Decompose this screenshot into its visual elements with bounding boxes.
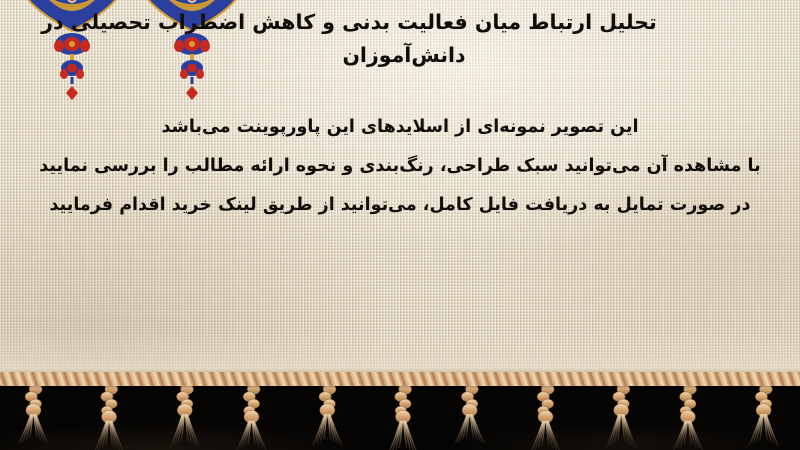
body-line-2: با مشاهده آن می‌توانید سبک طراحی، رنگ‌بن…	[0, 147, 800, 186]
slide-canvas: تحلیل ارتباط میان فعالیت بدنی و کاهش اضط…	[0, 0, 800, 450]
slide-title-line-2: دانش‌آموزان	[24, 39, 784, 72]
carpet-fringe-band	[0, 376, 800, 450]
slide-title-line-1: تحلیل ارتباط میان فعالیت بدنی و کاهش اضط…	[24, 6, 784, 39]
slide-title: تحلیل ارتباط میان فعالیت بدنی و کاهش اضط…	[24, 6, 784, 72]
body-line-3: در صورت تمایل به دریافت فایل کامل، می‌تو…	[0, 186, 800, 225]
fringe-tassels-icon	[0, 376, 800, 450]
fringe-top-cord	[0, 372, 800, 386]
body-line-1: این تصویر نمونه‌ای از اسلایدهای این پاور…	[0, 108, 800, 147]
slide-body: این تصویر نمونه‌ای از اسلایدهای این پاور…	[0, 108, 800, 225]
